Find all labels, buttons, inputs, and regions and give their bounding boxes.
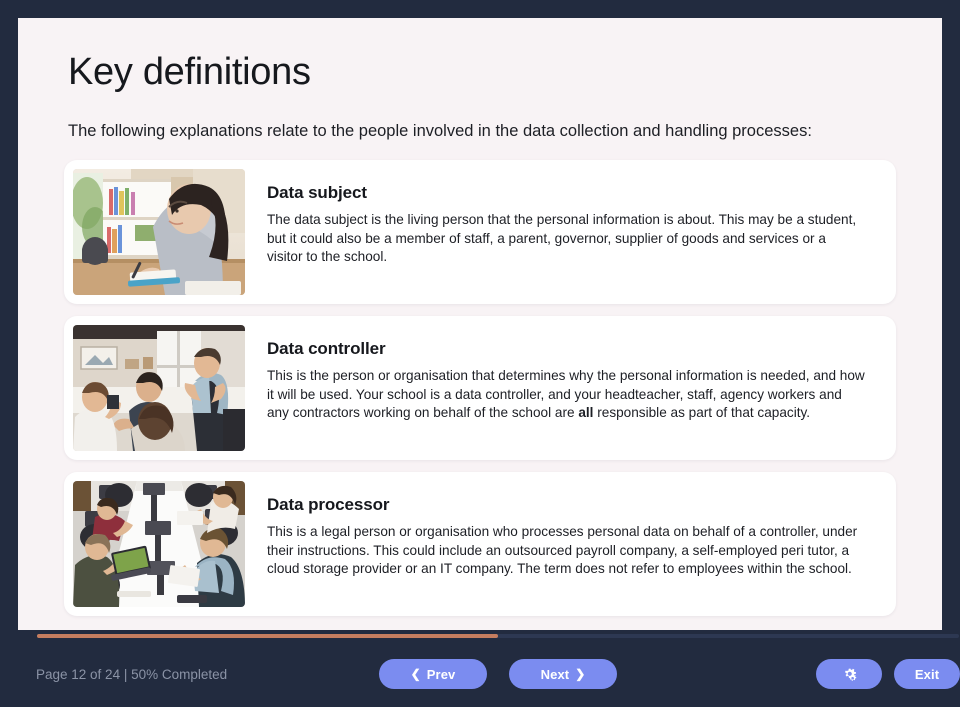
player-footer: Page 12 of 24 | 50% Completed ❮ Prev Nex…: [18, 630, 960, 707]
card-text-pre: This is a legal person or organisation w…: [267, 524, 857, 576]
card-body: Data controller This is the person or or…: [245, 325, 887, 428]
prev-button-label: Prev: [427, 667, 456, 682]
footer-right-actions: Exit: [816, 659, 960, 689]
card-text-pre: The data subject is the living person th…: [267, 212, 856, 264]
definition-card-list: Data subject The data subject is the liv…: [64, 160, 896, 616]
course-progress-bar[interactable]: [37, 634, 959, 638]
definition-card-data-processor: Data processor This is a legal person or…: [64, 472, 896, 616]
exit-button-label: Exit: [915, 667, 939, 682]
page-title: Key definitions: [68, 52, 896, 94]
course-player: Key definitions The following explanatio…: [0, 0, 960, 707]
slide-content-panel: Key definitions The following explanatio…: [18, 18, 942, 630]
card-heading: Data controller: [267, 339, 865, 359]
prev-button[interactable]: ❮ Prev: [379, 659, 487, 689]
card-text-post: responsible as part of that capacity.: [593, 405, 810, 420]
card-heading: Data processor: [267, 495, 865, 515]
definition-card-data-controller: Data controller This is the person or or…: [64, 316, 896, 460]
card-text-emphasis: all: [578, 405, 593, 420]
people-working-at-long-desk-photo: [73, 481, 245, 607]
definition-card-data-subject: Data subject The data subject is the liv…: [64, 160, 896, 304]
next-button-label: Next: [541, 667, 570, 682]
card-body: Data subject The data subject is the liv…: [245, 169, 887, 272]
page-status-text: Page 12 of 24 | 50% Completed: [36, 667, 227, 682]
navigation-buttons: ❮ Prev Next ❯: [379, 659, 617, 689]
card-description: This is the person or organisation that …: [267, 367, 865, 422]
card-description: This is a legal person or organisation w…: [267, 523, 865, 578]
chevron-left-icon: ❮: [411, 668, 421, 680]
slide-subtitle: The following explanations relate to the…: [68, 121, 896, 142]
course-progress-fill: [37, 634, 498, 638]
chevron-right-icon: ❯: [575, 668, 585, 680]
cogs-icon: [840, 666, 859, 683]
next-button[interactable]: Next ❯: [509, 659, 617, 689]
footer-controls: Page 12 of 24 | 50% Completed ❮ Prev Nex…: [36, 652, 960, 696]
exit-button[interactable]: Exit: [894, 659, 960, 689]
card-description: The data subject is the living person th…: [267, 211, 865, 266]
card-body: Data processor This is a legal person or…: [245, 481, 887, 584]
settings-button[interactable]: [816, 659, 882, 689]
office-team-meeting-photo: [73, 325, 245, 451]
card-heading: Data subject: [267, 183, 865, 203]
woman-writing-at-desk-photo: [73, 169, 245, 295]
